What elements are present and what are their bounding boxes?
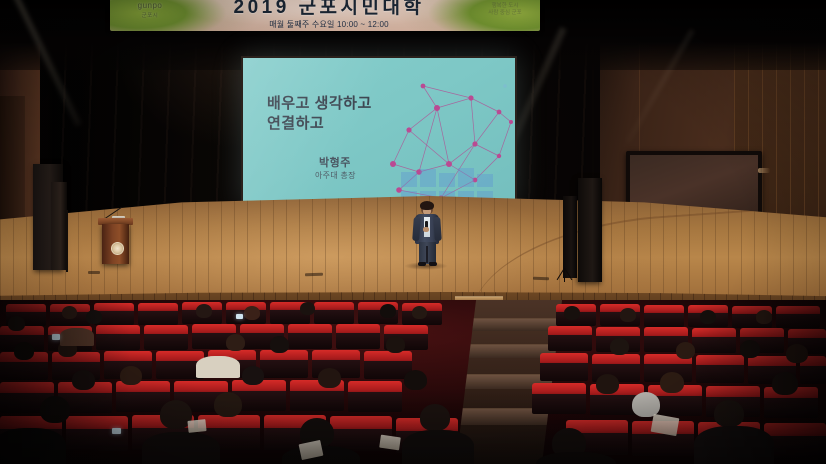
stage-floor-tape-right (533, 277, 549, 281)
table-row[interactable] (96, 325, 140, 350)
audience-torso (0, 428, 66, 464)
audience-head (300, 302, 315, 315)
audience-head (14, 342, 34, 360)
projection-screen: 배우고 생각하고 연결하고 박형주 아주대 총장 (243, 58, 515, 206)
audience-head (386, 336, 405, 353)
left-wall-panel (0, 96, 25, 236)
stage-floor-tape-left (305, 273, 323, 277)
audience-head (380, 304, 396, 318)
microphone-tripod-stand (553, 268, 575, 282)
audience-head (196, 304, 212, 318)
podium-body (102, 224, 129, 264)
audience-head (660, 372, 684, 393)
audience-torso (60, 328, 94, 346)
table-row[interactable] (696, 355, 744, 383)
table-row[interactable] (288, 324, 332, 349)
audience-head (772, 372, 798, 395)
logo-main-text: gunpo (138, 1, 163, 10)
audience-head (40, 396, 70, 423)
pa-speaker-stand-left (66, 210, 68, 272)
city-emblem-icon (111, 242, 124, 255)
audience-head (412, 306, 427, 319)
banner-slogan-line2: 사람 중심 군포 (476, 10, 534, 17)
audience-torso (536, 452, 616, 464)
auditorium-photo: gunpo 군포시 2019 군포시민대학 매월 둘째주 수요일 10:00 ~… (0, 0, 826, 464)
banner-slogan-line1: 행복한 도시 (476, 3, 534, 10)
audience-head (214, 392, 242, 417)
audience-phone-screen (112, 428, 121, 434)
table-row[interactable] (548, 326, 592, 351)
audience-head (700, 310, 716, 324)
audience-phone-screen (236, 314, 243, 319)
table-row[interactable] (692, 328, 736, 353)
audience-head (610, 338, 629, 355)
logo-sub-text: 군포시 (122, 11, 178, 19)
aisle-step-1 (472, 318, 560, 331)
audience-handout-paper (379, 435, 401, 451)
presenter-right-shoe (429, 262, 437, 266)
table-row[interactable] (540, 353, 588, 381)
pa-speaker-right-secondary (563, 196, 577, 278)
presenter-on-stage (410, 202, 444, 266)
pa-speaker-stack-right (578, 178, 602, 282)
presenter-hair (420, 201, 434, 210)
slide-headline: 배우고 생각하고 연결하고 (267, 94, 372, 134)
audience-handout-paper (187, 419, 206, 433)
audience-head (620, 308, 636, 322)
stage-floor-tape-podium (88, 271, 100, 274)
audience-torso-light-clothing (196, 356, 240, 378)
table-row[interactable] (336, 324, 380, 349)
banner-subtitle: 매월 둘째주 수요일 10:00 ~ 12:00 (184, 19, 474, 30)
banner-title: 2019 군포시민대학 (184, 0, 474, 19)
audience-head (564, 306, 580, 320)
projection-screen-frame: 배우고 생각하고 연결하고 박형주 아주대 총장 (241, 56, 517, 208)
audience-head (8, 316, 25, 331)
audience-head (244, 306, 260, 320)
table-row[interactable] (314, 302, 354, 324)
pa-speaker-left-secondary (51, 182, 67, 270)
audience-head (120, 366, 142, 385)
audience-head (242, 366, 264, 385)
audience-head (72, 370, 95, 390)
banner-slogan: 행복한 도시 사람 중심 군포 (476, 3, 534, 17)
table-row[interactable] (532, 383, 586, 414)
table-row[interactable] (348, 381, 402, 412)
audience-head (404, 370, 427, 390)
gunpo-city-logo: gunpo 군포시 (122, 1, 178, 19)
slide-speaker-name: 박형주 (319, 154, 351, 170)
audience-head (786, 344, 808, 363)
slide-headline-line2: 연결하고 (267, 114, 372, 134)
event-banner: gunpo 군포시 2019 군포시민대학 매월 둘째주 수요일 10:00 ~… (110, 0, 540, 31)
audience-seating-area (0, 300, 826, 464)
presenter-hand (423, 227, 429, 232)
audience-torso (142, 432, 220, 464)
slide-headline-line1: 배우고 생각하고 (267, 94, 372, 114)
table-row[interactable] (138, 303, 178, 325)
audience-head (714, 400, 744, 427)
audience-head (756, 310, 772, 324)
table-row[interactable] (776, 306, 820, 328)
table-row[interactable] (644, 305, 684, 327)
audience-torso (694, 426, 774, 464)
audience-head (318, 368, 341, 388)
audience-head (740, 340, 760, 358)
slide-speaker-title: 아주대 총장 (315, 170, 356, 181)
audience-head (86, 310, 102, 324)
audience-head (62, 306, 77, 319)
table-row[interactable] (144, 325, 188, 350)
presenter-left-shoe (418, 262, 426, 266)
presenter-right-arm (433, 217, 442, 241)
audience-phone-screen (52, 334, 60, 340)
audience-head (270, 336, 289, 353)
audience-head (596, 374, 619, 394)
audience-head (420, 404, 450, 431)
audience-head (226, 334, 245, 351)
wall-sconce-light (758, 168, 770, 173)
lectern-podium (100, 218, 131, 264)
audience-head (676, 342, 695, 359)
table-row[interactable] (260, 350, 308, 378)
presenter-leg-gap (426, 246, 428, 263)
audience-torso (402, 430, 474, 464)
